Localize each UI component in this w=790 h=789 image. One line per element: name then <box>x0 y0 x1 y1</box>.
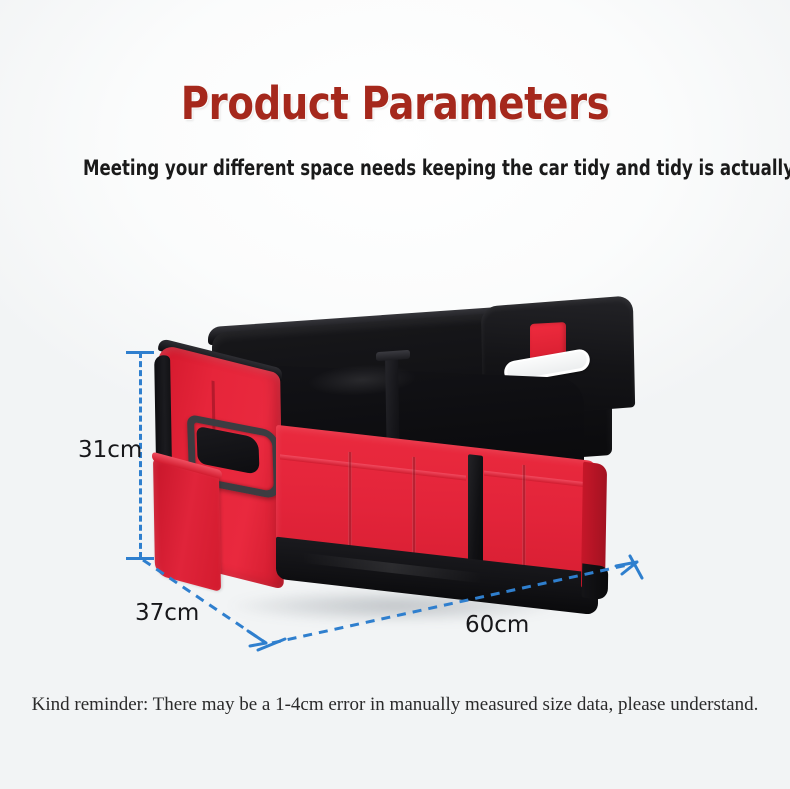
measurement-disclaimer: Kind reminder: There may be a 1-4cm erro… <box>0 692 790 718</box>
height-dimension-label: 31cm <box>78 437 142 463</box>
right-side-base <box>582 563 609 600</box>
width-dimension-label: 60cm <box>465 612 529 638</box>
page-title: Product Parameters <box>55 78 734 130</box>
trunk-organizer-illustration <box>152 315 644 635</box>
depth-dimension-label: 37cm <box>135 600 199 626</box>
product-parameters-page: Product Parameters Meeting your differen… <box>0 0 790 789</box>
height-cap-top <box>126 351 154 354</box>
interior-highlight <box>302 360 422 400</box>
height-cap-bottom <box>126 557 154 560</box>
page-subtitle: Meeting your different space needs keepi… <box>83 154 707 182</box>
